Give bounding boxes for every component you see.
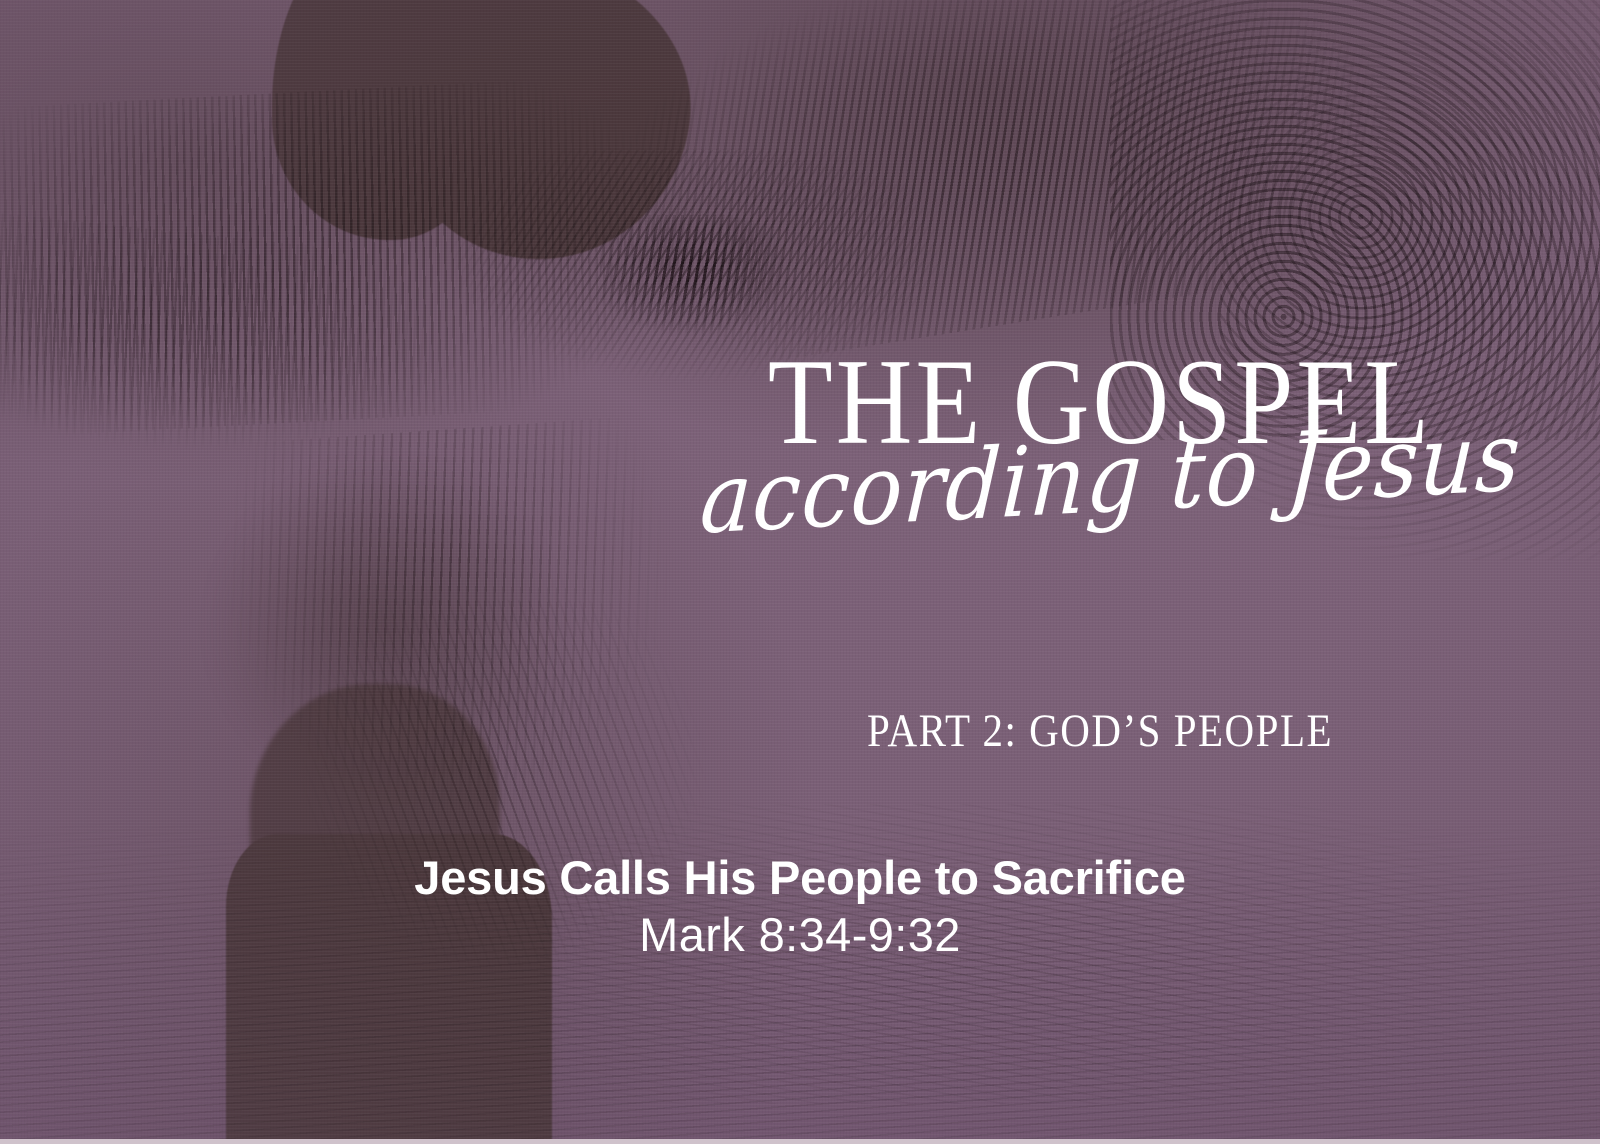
- engraving-lines-hand: [600, 215, 800, 335]
- series-part-label: PART 2: GOD’S PEOPLE: [700, 703, 1500, 758]
- sermon-title: Jesus Calls His People to Sacrifice: [0, 852, 1600, 905]
- series-lockup: THE GOSPEL according to Jesus: [700, 352, 1500, 522]
- bottom-edge-strip: [0, 1139, 1600, 1144]
- sermon-title-slide: THE GOSPEL according to Jesus PART 2: GO…: [0, 0, 1600, 1144]
- background-artwork: [0, 0, 1600, 1144]
- sermon-block: Jesus Calls His People to Sacrifice Mark…: [0, 852, 1600, 965]
- sermon-scripture-reference: Mark 8:34-9:32: [0, 905, 1600, 965]
